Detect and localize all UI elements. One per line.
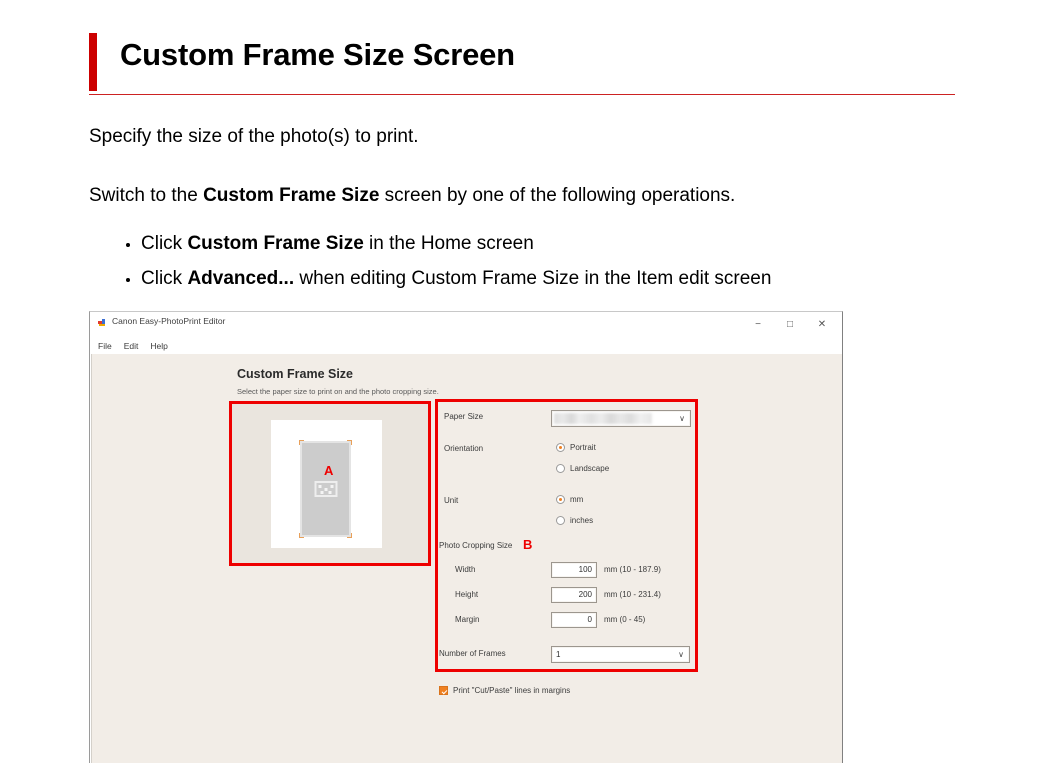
- operations-list: Click Custom Frame Size in the Home scre…: [113, 232, 771, 302]
- window-titlebar: Canon Easy-PhotoPrint Editor − □ ✕: [90, 312, 842, 338]
- window-title: Canon Easy-PhotoPrint Editor: [112, 316, 225, 326]
- cut-paste-lines-checkbox-row[interactable]: Print "Cut/Paste" lines in margins: [439, 686, 570, 695]
- list-item: Click Advanced... when editing Custom Fr…: [141, 267, 771, 291]
- header-divider: [89, 94, 955, 95]
- menubar: File Edit Help: [90, 338, 842, 354]
- app-window-screenshot: Canon Easy-PhotoPrint Editor − □ ✕ File …: [89, 311, 843, 763]
- checkbox-checked-icon[interactable]: [439, 686, 448, 695]
- header-accent-bar: [89, 33, 97, 91]
- annotation-label-a: A: [324, 464, 333, 477]
- cut-paste-lines-label: Print "Cut/Paste" lines in margins: [453, 686, 570, 695]
- list-item: Click Custom Frame Size in the Home scre…: [141, 232, 771, 256]
- annotation-box-b: [435, 399, 698, 672]
- switch-bold-term: Custom Frame Size: [203, 185, 379, 206]
- window-client-area: Custom Frame Size Select the paper size …: [90, 354, 842, 763]
- window-controls: − □ ✕: [742, 312, 838, 338]
- menu-file[interactable]: File: [90, 341, 118, 351]
- switch-prefix: Switch to the: [89, 185, 203, 206]
- dialog-subheading: Select the paper size to print on and th…: [237, 387, 439, 396]
- bullet-prefix: Click: [141, 268, 187, 289]
- bullet-bold-term: Custom Frame Size: [187, 233, 363, 254]
- menu-edit[interactable]: Edit: [118, 341, 145, 351]
- page-header: Custom Frame Size Screen: [89, 33, 955, 95]
- annotation-label-b: B: [522, 538, 533, 551]
- switch-suffix: screen by one of the following operation…: [379, 185, 735, 206]
- bullet-suffix: when editing Custom Frame Size in the It…: [294, 268, 771, 289]
- minimize-button[interactable]: −: [742, 314, 774, 336]
- maximize-button[interactable]: □: [774, 314, 806, 336]
- intro-paragraph: Specify the size of the photo(s) to prin…: [89, 126, 419, 149]
- canon-app-icon: [98, 318, 107, 327]
- bullet-bold-term: Advanced...: [187, 268, 294, 289]
- dialog-heading: Custom Frame Size: [237, 367, 353, 381]
- bullet-suffix: in the Home screen: [364, 233, 534, 254]
- menu-help[interactable]: Help: [144, 341, 173, 351]
- left-rail: [90, 354, 92, 763]
- close-button[interactable]: ✕: [806, 314, 838, 336]
- bullet-prefix: Click: [141, 233, 187, 254]
- page-title: Custom Frame Size Screen: [120, 37, 515, 73]
- switch-paragraph: Switch to the Custom Frame Size screen b…: [89, 185, 735, 208]
- annotation-box-a: [229, 401, 431, 566]
